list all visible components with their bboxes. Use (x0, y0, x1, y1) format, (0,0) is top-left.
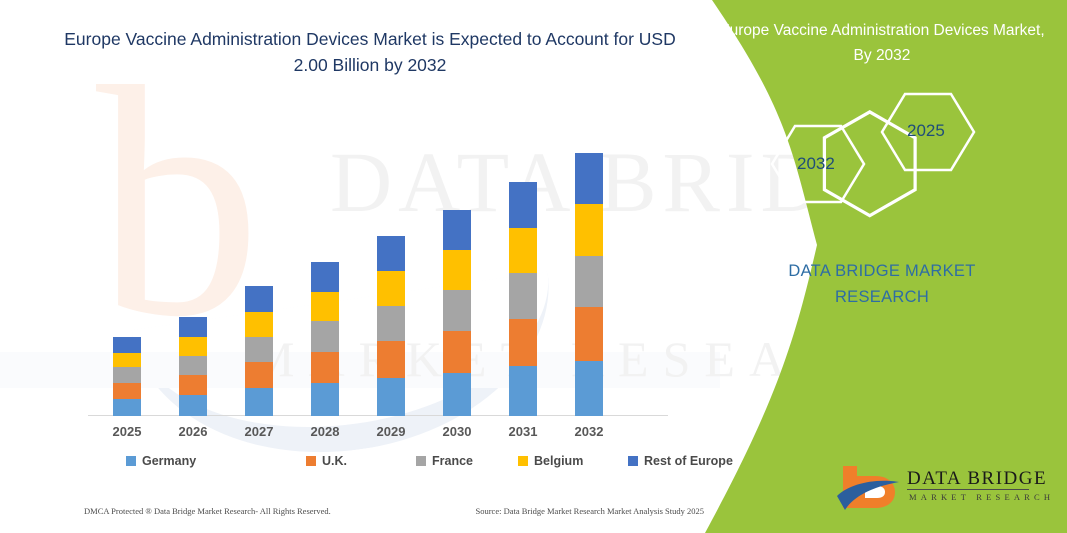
bar-segment-u-k-[interactable] (443, 331, 471, 373)
x-axis-label-2031: 2031 (493, 424, 553, 439)
bar-segment-rest-of-europe[interactable] (113, 337, 141, 353)
legend-item-u-k-[interactable]: U.K. (306, 454, 347, 468)
bar-column-2032[interactable] (575, 153, 603, 416)
data-bridge-logo-mark-icon (835, 462, 901, 514)
right-green-panel: Europe Vaccine Administration Devices Ma… (667, 0, 1067, 533)
legend-swatch-icon (126, 456, 136, 466)
bar-segment-germany[interactable] (575, 361, 603, 416)
logo-main-text: DATA BRIDGE (907, 468, 1047, 490)
bar-segment-belgium[interactable] (377, 271, 405, 305)
bar-segment-u-k-[interactable] (311, 352, 339, 384)
hexagon-badges: 2032 2025 (747, 88, 1037, 218)
infographic-canvas: b DATA BRIDGE MARKET RESEARCH Europe Vac… (0, 0, 1067, 533)
bar-segment-germany[interactable] (113, 399, 141, 416)
bar-segment-france[interactable] (443, 290, 471, 331)
bar-segment-u-k-[interactable] (179, 375, 207, 395)
bar-segment-belgium[interactable] (443, 250, 471, 289)
page-title: Europe Vaccine Administration Devices Ma… (60, 26, 680, 78)
x-axis-label-2030: 2030 (427, 424, 487, 439)
bar-segment-u-k-[interactable] (113, 383, 141, 399)
legend-swatch-icon (518, 456, 528, 466)
bar-segment-france[interactable] (179, 356, 207, 376)
x-axis-label-2029: 2029 (361, 424, 421, 439)
footer: DMCA Protected ® Data Bridge Market Rese… (84, 506, 704, 516)
chart-legend: GermanyU.K.FranceBelgiumRest of Europe (88, 454, 668, 476)
bar-segment-germany[interactable] (443, 373, 471, 416)
bar-segment-germany[interactable] (179, 395, 207, 416)
brand-line-1: DATA BRIDGE MARKET (722, 258, 1042, 284)
bar-column-2026[interactable] (179, 317, 207, 416)
x-axis-label-2026: 2026 (163, 424, 223, 439)
brand-line-2: RESEARCH (722, 284, 1042, 310)
panel-title: Europe Vaccine Administration Devices Ma… (712, 18, 1052, 68)
bar-segment-france[interactable] (575, 256, 603, 307)
chart-panel: Europe Vaccine Administration Devices Ma… (0, 0, 745, 533)
bar-column-2025[interactable] (113, 337, 141, 416)
company-logo: DATA BRIDGE MARKET RESEARCH (835, 462, 1035, 518)
bar-segment-germany[interactable] (377, 378, 405, 416)
bar-segment-u-k-[interactable] (575, 307, 603, 361)
bar-column-2030[interactable] (443, 210, 471, 416)
x-axis-label-2027: 2027 (229, 424, 289, 439)
footer-copyright: DMCA Protected ® Data Bridge Market Rese… (84, 506, 331, 516)
x-axis-label-2025: 2025 (97, 424, 157, 439)
bar-segment-belgium[interactable] (245, 312, 273, 337)
bar-chart-plot (88, 140, 668, 416)
hexagon-label-2032: 2032 (797, 154, 835, 174)
bar-column-2029[interactable] (377, 236, 405, 416)
bar-segment-belgium[interactable] (311, 292, 339, 321)
bar-segment-france[interactable] (245, 337, 273, 362)
bar-segment-u-k-[interactable] (245, 362, 273, 388)
bar-segment-france[interactable] (113, 367, 141, 383)
brand-name: DATA BRIDGE MARKET RESEARCH (722, 258, 1042, 310)
bar-segment-rest-of-europe[interactable] (509, 182, 537, 228)
hexagon-label-2025: 2025 (907, 121, 945, 141)
bar-segment-germany[interactable] (311, 383, 339, 416)
legend-swatch-icon (306, 456, 316, 466)
logo-divider (907, 489, 1029, 490)
bar-segment-belgium[interactable] (113, 353, 141, 367)
bar-segment-belgium[interactable] (575, 204, 603, 255)
hexagon-shapes-icon (747, 88, 1037, 218)
bar-segment-rest-of-europe[interactable] (311, 262, 339, 292)
bar-segment-germany[interactable] (245, 388, 273, 416)
bar-column-2028[interactable] (311, 262, 339, 416)
legend-label: France (432, 454, 473, 468)
bar-segment-france[interactable] (509, 273, 537, 319)
bar-segment-rest-of-europe[interactable] (245, 286, 273, 312)
bar-segment-rest-of-europe[interactable] (377, 236, 405, 272)
x-axis-label-2032: 2032 (559, 424, 619, 439)
bar-column-2031[interactable] (509, 182, 537, 416)
bar-segment-rest-of-europe[interactable] (575, 153, 603, 204)
bar-segment-u-k-[interactable] (377, 341, 405, 378)
bar-column-2027[interactable] (245, 286, 273, 416)
bar-segment-rest-of-europe[interactable] (179, 317, 207, 337)
bar-segment-belgium[interactable] (179, 337, 207, 355)
bar-segment-rest-of-europe[interactable] (443, 210, 471, 251)
bar-segment-belgium[interactable] (509, 228, 537, 273)
legend-swatch-icon (416, 456, 426, 466)
legend-swatch-icon (628, 456, 638, 466)
legend-label: Germany (142, 454, 196, 468)
legend-item-france[interactable]: France (416, 454, 473, 468)
logo-sub-text: MARKET RESEARCH (909, 492, 1054, 502)
x-axis-labels: 20252026202720282029203020312032 (88, 424, 668, 446)
bar-segment-france[interactable] (377, 306, 405, 342)
legend-label: Belgium (534, 454, 583, 468)
legend-item-belgium[interactable]: Belgium (518, 454, 583, 468)
bar-segment-france[interactable] (311, 321, 339, 351)
legend-item-germany[interactable]: Germany (126, 454, 196, 468)
bar-segment-germany[interactable] (509, 366, 537, 416)
x-axis-label-2028: 2028 (295, 424, 355, 439)
legend-label: U.K. (322, 454, 347, 468)
bar-segment-u-k-[interactable] (509, 319, 537, 366)
